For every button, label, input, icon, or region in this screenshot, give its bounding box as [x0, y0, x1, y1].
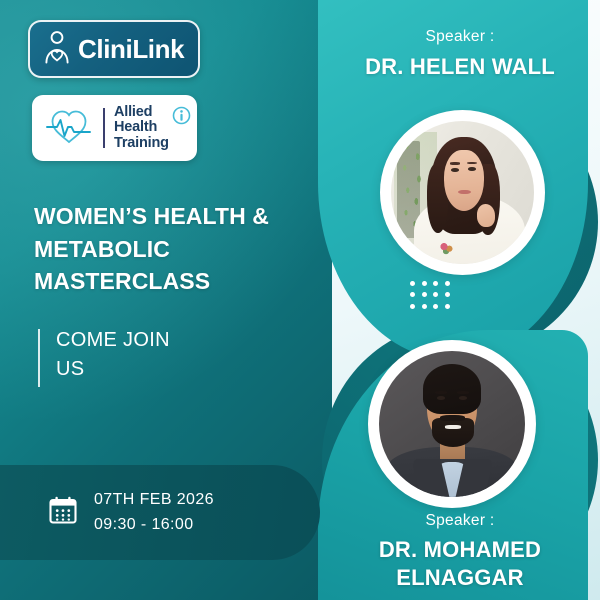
cta-accent-bar	[38, 329, 40, 387]
dot-grid-accent	[407, 278, 453, 312]
allied-health-training-logo[interactable]: Allied Health Training	[32, 95, 197, 161]
photo1-brow-right	[467, 162, 477, 164]
event-datetime: 07TH FEB 2026 09:30 - 16:00	[94, 488, 214, 538]
cta-line-1: COME JOIN	[56, 326, 170, 355]
allied-wordmark: Allied Health Training	[114, 105, 169, 151]
photo2-eye-right	[459, 396, 467, 400]
event-date-row: 07TH FEB 2026 09:30 - 16:00	[48, 488, 214, 538]
speaker-caption-2: Speaker : DR. MOHAMED ELNAGGAR	[320, 512, 600, 591]
photo1-brow-left	[450, 162, 460, 164]
clinilink-wordmark: CliniLink	[78, 34, 184, 65]
allied-line-2: Health	[114, 120, 169, 135]
event-date: 07TH FEB 2026	[94, 488, 214, 513]
photo2-moustache	[440, 415, 465, 421]
cta-line-2: US	[56, 355, 170, 384]
allied-line-1: Allied	[114, 105, 169, 120]
speaker-name-2-line-2: ELNAGGAR	[320, 564, 600, 592]
photo2-brow-right	[457, 391, 469, 394]
event-time: 09:30 - 16:00	[94, 513, 214, 538]
photo1-hand	[477, 204, 496, 227]
speaker-name-2: DR. MOHAMED ELNAGGAR	[320, 536, 600, 591]
photo2-beard	[432, 418, 474, 447]
headline-line-3: MASTERCLASS	[34, 265, 324, 298]
photo1-face	[444, 150, 484, 211]
cta-text: COME JOIN US	[56, 326, 170, 384]
poster-canvas: CliniLink Allied Health Training WOM	[0, 0, 600, 600]
speaker-label-2: Speaker :	[320, 512, 600, 530]
photo2-smile	[445, 425, 461, 429]
photo1-eye-left	[451, 168, 459, 172]
speaker-photo-mohamed-elnaggar	[368, 340, 536, 508]
call-to-action: COME JOIN US	[38, 326, 170, 387]
headline-line-2: METABOLIC	[34, 233, 324, 266]
photo1-floral-detail	[437, 241, 457, 255]
photo2-hair	[423, 364, 481, 414]
logo-divider	[103, 108, 105, 148]
speaker-photo-helen-wall	[380, 110, 545, 275]
speaker-caption-1: Speaker : DR. HELEN WALL	[320, 28, 600, 81]
speaker-label-1: Speaker :	[320, 28, 600, 46]
headline-line-1: WOMEN’S HEALTH &	[34, 200, 324, 233]
avatar-image-2	[379, 351, 525, 497]
person-heart-icon	[43, 30, 71, 69]
speaker-name-2-line-1: DR. MOHAMED	[320, 536, 600, 564]
avatar-image-1	[391, 121, 534, 264]
photo2-brow-left	[435, 391, 447, 394]
photo2-eye-left	[437, 396, 445, 400]
page-title: WOMEN’S HEALTH & METABOLIC MASTERCLASS	[34, 200, 324, 298]
allied-line-3: Training	[114, 136, 169, 151]
info-circle-icon	[172, 106, 191, 129]
heart-ecg-icon	[44, 105, 94, 152]
speaker-name-1: DR. HELEN WALL	[320, 53, 600, 81]
calendar-icon	[48, 495, 78, 530]
clinilink-logo[interactable]: CliniLink	[28, 20, 200, 78]
